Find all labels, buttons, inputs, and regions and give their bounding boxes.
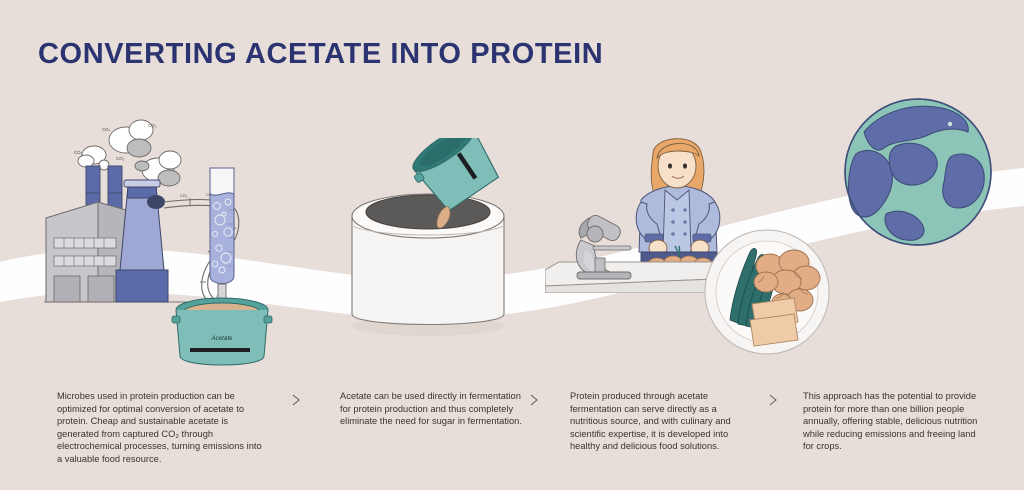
cooling-tower (116, 180, 168, 302)
tofu-blocks (750, 298, 798, 346)
caption-step-3-text: Protein produced through acetate ferment… (570, 390, 755, 453)
step-captions: Microbes used in protein production can … (0, 390, 1024, 490)
svg-text:CO₂: CO₂ (148, 123, 157, 128)
scene-globe (842, 96, 994, 248)
step-separator-1 (289, 392, 303, 408)
caption-step-1: Microbes used in protein production can … (57, 390, 262, 466)
infographic-canvas: CONVERTING ACETATE INTO PROTEIN CO₂ CO₂ … (0, 0, 1024, 490)
acetate-bucket-label: Acetate (211, 335, 234, 342)
step-separator-3 (766, 392, 780, 408)
scene-food-plate (702, 228, 832, 356)
svg-text:CO₂: CO₂ (116, 156, 125, 161)
svg-text:CO₂: CO₂ (102, 127, 111, 132)
scene-fermentation-tank (330, 138, 530, 370)
acetate-bucket: Acetate (172, 298, 272, 365)
scene-factory-electrolysis: CO₂ CO₂ CO₂ CO₂ (38, 98, 298, 368)
caption-step-2-text: Acetate can be used directly in fermenta… (340, 390, 530, 428)
caption-step-4: This approach has the potential to provi… (803, 390, 981, 453)
caption-step-4-text: This approach has the potential to provi… (803, 390, 981, 453)
tank-opening (366, 195, 490, 229)
caption-step-2: Acetate can be used directly in fermenta… (340, 390, 530, 428)
globe-continents (948, 122, 952, 126)
svg-text:CO₂: CO₂ (74, 150, 83, 155)
step-separator-2 (527, 392, 541, 408)
svg-text:CO₂: CO₂ (180, 193, 188, 198)
factory-building (46, 202, 126, 302)
caption-step-1-text: Microbes used in protein production can … (57, 390, 262, 466)
page-title: CONVERTING ACETATE INTO PROTEIN (38, 38, 603, 71)
caption-step-3: Protein produced through acetate ferment… (570, 390, 755, 453)
